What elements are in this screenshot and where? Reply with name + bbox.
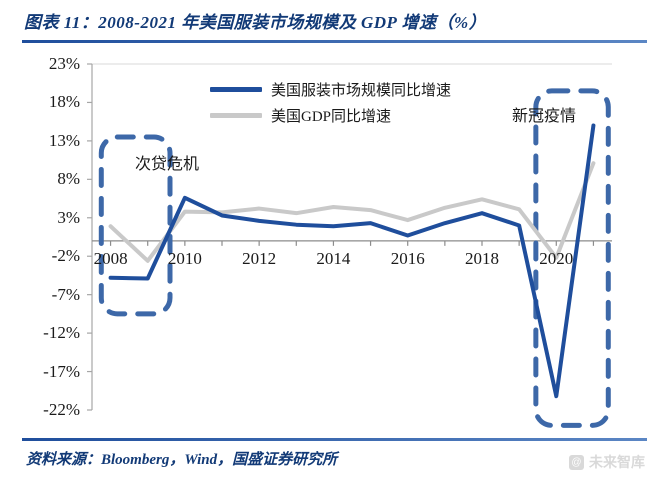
chart-figure: 图表 11：2008-2021 年美国服装市场规模及 GDP 增速（%） 23%…: [0, 0, 669, 485]
legend-label-apparel: 美国服装市场规模同比增速: [271, 79, 451, 100]
x-tick-label: 2016: [391, 249, 425, 269]
x-tick-label: 2014: [316, 249, 350, 269]
watermark-badge-icon: @: [569, 455, 584, 470]
x-tick-label: 2010: [168, 249, 202, 269]
title-divider: [22, 40, 647, 43]
legend-item-apparel: 美国服装市场规模同比增速: [210, 76, 451, 102]
source-note: 资料来源：Bloomberg，Wind，国盛证券研究所: [26, 448, 337, 469]
title-area: 图表 11：2008-2021 年美国服装市场规模及 GDP 增速（%）: [0, 0, 669, 46]
x-tick-label: 2008: [94, 249, 128, 269]
chart-legend: 美国服装市场规模同比增速 美国GDP同比增速: [210, 76, 451, 128]
page-title: 图表 11：2008-2021 年美国服装市场规模及 GDP 增速（%）: [24, 8, 486, 33]
x-tick-label: 2020: [539, 249, 573, 269]
legend-item-gdp: 美国GDP同比增速: [210, 102, 451, 128]
legend-swatch-apparel: [210, 87, 262, 92]
x-tick-label: 2012: [242, 249, 276, 269]
watermark-label: 未来智库: [589, 452, 645, 472]
annotation-covid-pandemic: 新冠疫情: [512, 102, 576, 126]
annotation-subprime-crisis: 次贷危机: [135, 150, 199, 174]
legend-swatch-gdp: [210, 113, 262, 118]
x-tick-label: 2018: [465, 249, 499, 269]
plot-area: 23%18%13%8%3%-2%-7%-12%-17%-22% 20082010…: [0, 50, 669, 435]
legend-label-gdp: 美国GDP同比增速: [271, 105, 391, 126]
watermark: @ 未来智库: [569, 452, 645, 472]
footer-divider: [22, 438, 647, 441]
